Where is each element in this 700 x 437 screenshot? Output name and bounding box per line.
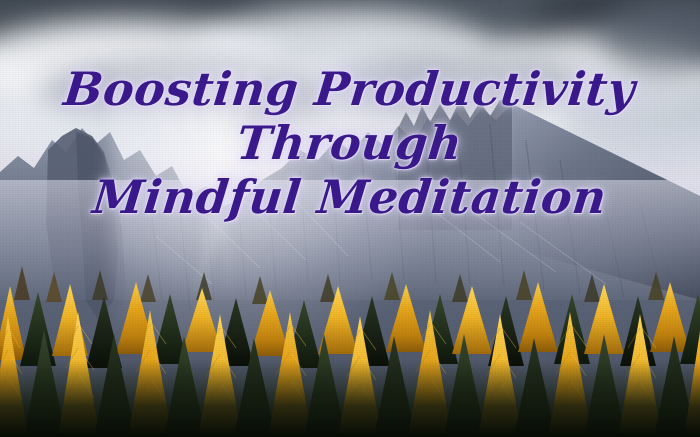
autumn-forest bbox=[0, 0, 700, 437]
forest-floor bbox=[0, 360, 700, 437]
quote-graphic: Boosting Productivity Through Mindful Me… bbox=[0, 0, 700, 437]
